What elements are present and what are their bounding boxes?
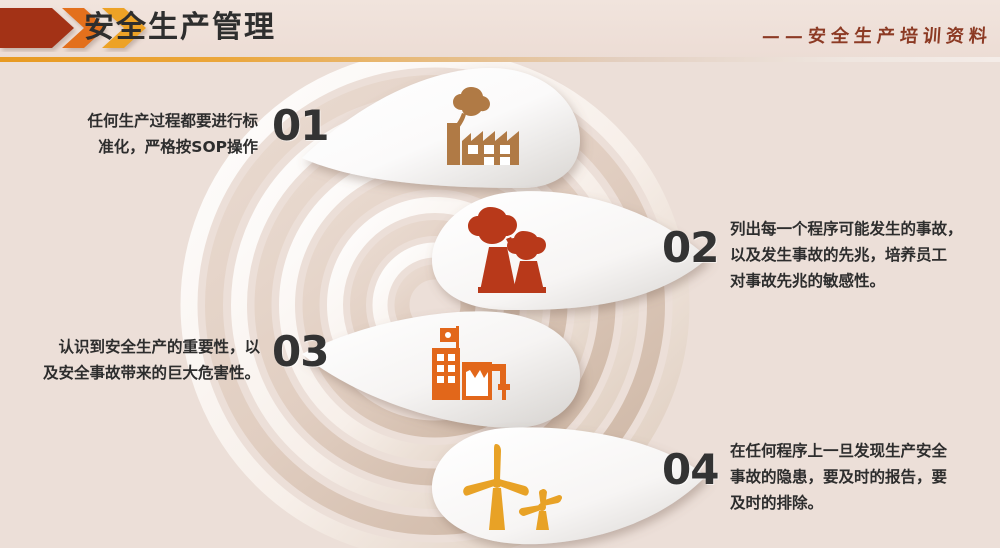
- step-text-02-line2: 以及发生事故的先兆，培养员工: [730, 242, 996, 268]
- factory-smokestack-icon: [433, 83, 529, 169]
- step-number-04: 04: [662, 448, 718, 492]
- header-subtitle: ——安全生产培训资料: [761, 22, 993, 48]
- step-text-02-line3: 对事故先兆的敏感性。: [730, 268, 996, 294]
- slide-header: 安全生产管理 ——安全生产培训资料: [0, 0, 1000, 62]
- step-text-04-line3: 及时的排除。: [730, 490, 996, 516]
- step-text-04: 在任何程序上一旦发现生产安全 事故的隐患，要及时的报告，要 及时的排除。: [730, 438, 996, 516]
- chevron-block-dark-red-icon: [0, 8, 74, 48]
- step-text-03-line1: 认识到安全生产的重要性，以: [10, 334, 260, 360]
- step-number-03: 03: [272, 330, 328, 374]
- step-text-02-line1: 列出每一个程序可能发生的事故，: [730, 216, 996, 242]
- step-text-04-line1: 在任何程序上一旦发现生产安全: [730, 438, 996, 464]
- step-number-01: 01: [272, 104, 328, 148]
- chemical-plant-flag-icon: [418, 320, 514, 408]
- wind-turbines-icon: [458, 438, 570, 534]
- page-title: 安全生产管理: [84, 8, 276, 48]
- step-number-02: 02: [662, 226, 718, 270]
- header-divider-rule: [0, 57, 1000, 62]
- cooling-towers-smoke-icon: [460, 201, 570, 297]
- step-text-03-line2: 及安全事故带来的巨大危害性。: [10, 360, 260, 386]
- petal-shape-03[interactable]: [300, 306, 590, 431]
- step-text-01: 任何生产过程都要进行标 准化，严格按SOP操作: [30, 108, 258, 160]
- slide-canvas: 01 02 03 04 任何生产过程都要进行标 准化，严格按SOP操作 列出每一…: [0, 0, 1000, 548]
- step-text-03: 认识到安全生产的重要性，以 及安全事故带来的巨大危害性。: [10, 334, 260, 386]
- step-text-01-line1: 任何生产过程都要进行标: [30, 108, 258, 134]
- petal-shape-01[interactable]: [300, 66, 590, 191]
- step-text-01-line2: 准化，严格按SOP操作: [30, 134, 258, 160]
- step-text-02: 列出每一个程序可能发生的事故， 以及发生事故的先兆，培养员工 对事故先兆的敏感性…: [730, 216, 996, 294]
- step-text-04-line2: 事故的隐患，要及时的报告，要: [730, 464, 996, 490]
